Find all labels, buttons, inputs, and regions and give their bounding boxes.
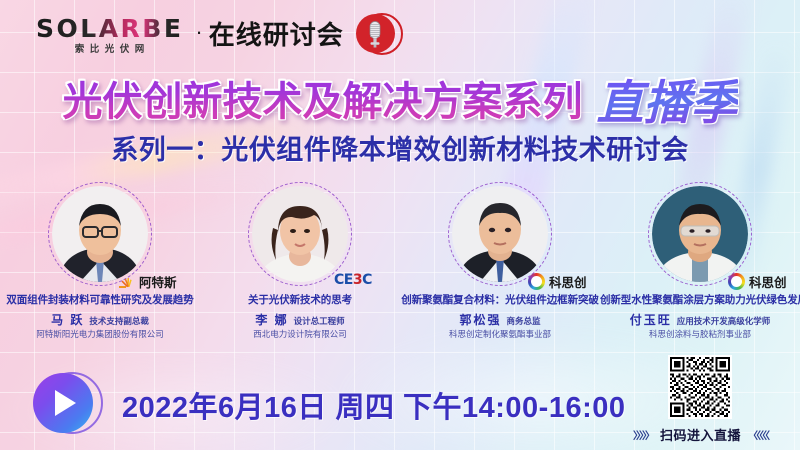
arrows-left-icon: 〉〉〉〉〉 [633,427,653,442]
speaker-company: 西北电力设计院有限公司 [200,328,400,340]
covestro-ring-glyph [728,273,745,290]
qr-caption: 扫码进入直播 [660,425,741,444]
avatar [48,182,152,286]
speaker-name: 马 跃 [51,313,84,327]
speaker-role: 商务总监 [507,316,541,326]
qr-code-icon[interactable] [668,355,732,419]
solarbe-logo: SOLARBE 索比光伏网 [36,16,183,55]
speaker-topic: 创新聚氨酯复合材料：光伏组件边框新突破 [400,292,600,307]
brand-label: 科思创 [749,272,787,291]
webinar-poster: SOLARBE 索比光伏网 · 在线研讨会 [0,0,800,450]
separator-dot: · [195,19,202,45]
speaker-company: 科思创涂料与胶粘剂事业部 [600,328,800,340]
microphone-icon [356,12,400,56]
main-title-row: 光伏创新技术及解决方案系列 直播季 [0,72,800,124]
event-date: 2022年6月16日 周四 下午14:00-16:00 [122,384,626,426]
solarbe-chinese-name: 索比光伏网 [70,45,150,55]
arrows-right-icon: 〈〈〈〈〈 [748,427,768,442]
speaker-role: 技术支持副总裁 [89,316,149,326]
qr-block[interactable]: 〉〉〉〉〉 扫码进入直播 〈〈〈〈〈 [648,355,752,450]
speaker-company: 阿特斯阳光电力集团股份有限公司 [0,328,200,340]
brand-label: 阿特斯 [139,272,177,291]
sun-rays-glyph [118,275,135,288]
speaker-card: 科思创 创新聚氨酯复合材料：光伏组件边框新突破 郭松强商务总监 科思创定制化聚氨… [400,176,600,361]
avatar [248,182,352,286]
avatar-photo [652,186,748,282]
brand-label: 科思创 [549,272,587,291]
speaker-topic: 创新型水性聚氨酯涂层方案助力光伏绿色发展 [600,292,800,307]
speaker-topic: 关于光伏新技术的思考 [200,292,400,307]
sun-rays-icon: 阿特斯 [118,272,177,291]
page-subtitle: 系列一：光伏组件降本增效创新材料技术研讨会 [111,128,689,167]
avatar [648,182,752,286]
covestro-logo-icon: 科思创 [728,272,787,291]
speaker-name: 李 娜 [255,313,288,327]
speaker-identity: 李 娜设计总工程师 [200,311,400,329]
qr-caption-row: 〉〉〉〉〉 扫码进入直播 〈〈〈〈〈 [608,425,793,444]
play-circle [33,373,93,433]
microphone-circle [356,14,395,53]
avatar [448,182,552,286]
ceec-logo-icon: CE3C [334,272,372,288]
title-accent: 直播季 [597,64,738,133]
subtitle-row: 系列一：光伏组件降本增效创新材料技术研讨会 [0,128,800,166]
avatar-photo [452,186,548,282]
speaker-role: 设计总工程师 [294,316,345,326]
speaker-topic: 双面组件封装材料可靠性研究及发展趋势 [0,292,200,307]
speaker-list: 阿特斯 双面组件封装材料可靠性研究及发展趋势 马 跃技术支持副总裁 阿特斯阳光电… [0,176,800,361]
solarbe-wordmark: SOLARBE [36,16,183,41]
brand-lockup: SOLARBE 索比光伏网 · 在线研讨会 [36,12,400,58]
ceec-wordmark: CE3C [334,272,372,288]
covestro-logo-icon: 科思创 [528,272,587,291]
speaker-identity: 马 跃技术支持副总裁 [0,311,200,329]
speaker-card: CE3C 关于光伏新技术的思考 李 娜设计总工程师 西北电力设计院有限公司 [200,176,400,361]
webinar-label: 在线研讨会 [209,15,344,52]
speaker-name: 郭松强 [459,313,501,327]
speaker-identity: 付玉旺应用技术开发高级化学师 [600,311,800,329]
speaker-card: 阿特斯 双面组件封装材料可靠性研究及发展趋势 马 跃技术支持副总裁 阿特斯阳光电… [0,176,200,361]
speaker-name: 付玉旺 [630,313,672,327]
play-triangle-glyph [55,390,76,416]
covestro-ring-glyph [528,273,545,290]
speaker-company: 科思创定制化聚氨酯事业部 [400,328,600,340]
speaker-card: 科思创 创新型水性聚氨酯涂层方案助力光伏绿色发展 付玉旺应用技术开发高级化学师 … [600,176,800,361]
play-button-icon[interactable] [33,372,95,434]
page-title: 光伏创新技术及解决方案系列 [63,69,583,127]
avatar-photo [52,186,148,282]
speaker-role: 应用技术开发高级化学师 [677,316,771,326]
speaker-identity: 郭松强商务总监 [400,311,600,329]
avatar-photo [252,186,348,282]
poster-header: SOLARBE 索比光伏网 · 在线研讨会 [0,0,800,70]
